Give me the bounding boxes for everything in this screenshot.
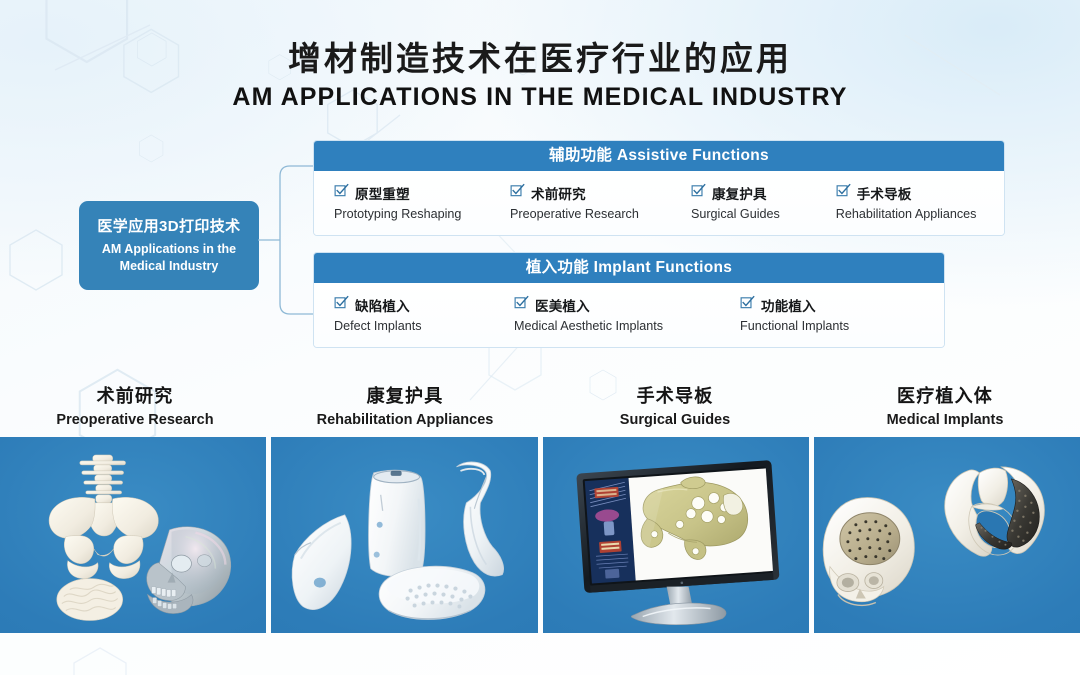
group-body-implant: 缺陷植入 Defect Implants 医美植入 Medical Aesthe… — [314, 283, 944, 347]
list-item-label-en: Surgical Guides — [691, 207, 824, 221]
list-item-label-en: Medical Aesthetic Implants — [514, 319, 728, 333]
checkbox-checked-icon — [334, 295, 349, 315]
showcase-caption: 康复护具 Rehabilitation Appliances — [270, 382, 540, 428]
group-header-implant: 植入功能 Implant Functions — [314, 253, 944, 283]
list-item-label-en: Functional Implants — [740, 319, 918, 333]
showcase-image-medical-implants — [814, 437, 1080, 633]
root-node-label-cn: 医学应用3D打印技术 — [79, 215, 259, 236]
checkbox-checked-icon — [740, 295, 755, 315]
list-item-label-cn: 康复护具 — [712, 183, 767, 203]
list-item[interactable]: 手术导板 Rehabilitation Appliances — [830, 183, 996, 221]
showcase-caption: 医疗植入体 Medical Implants — [810, 382, 1080, 428]
showcase-panels — [0, 437, 1080, 633]
group-header-assistive: 辅助功能 Assistive Functions — [314, 141, 1004, 171]
list-item-label-cn: 原型重塑 — [355, 183, 410, 203]
list-item-label-cn: 手术导板 — [857, 183, 912, 203]
list-item[interactable]: 医美植入 Medical Aesthetic Implants — [508, 295, 734, 333]
list-item-label-cn: 医美植入 — [535, 295, 590, 315]
page-title-en: AM APPLICATIONS IN THE MEDICAL INDUSTRY — [0, 83, 1080, 112]
list-item-label-en: Rehabilitation Appliances — [836, 207, 990, 221]
showcase-caption-en: Medical Implants — [810, 412, 1080, 428]
root-node-label: 医学应用3D打印技术 AM Applications in the Medica… — [79, 201, 259, 290]
checkbox-checked-icon — [514, 295, 529, 315]
showcase-caption: 术前研究 Preoperative Research — [0, 382, 270, 428]
showcase-caption-en: Surgical Guides — [540, 412, 810, 428]
list-item-label-cn: 缺陷植入 — [355, 295, 410, 315]
showcase-captions: 术前研究 Preoperative Research 康复护具 Rehabili… — [0, 382, 1080, 428]
showcase-image-preoperative-research — [0, 437, 266, 633]
list-item-label-en: Preoperative Research — [510, 207, 679, 221]
infographic-slide: 增材制造技术在医疗行业的应用 AM APPLICATIONS IN THE ME… — [0, 0, 1080, 675]
list-item[interactable]: 缺陷植入 Defect Implants — [328, 295, 508, 333]
group-card-implant-functions: 植入功能 Implant Functions 缺陷植入 Defect Impla… — [313, 252, 945, 348]
checkbox-checked-icon — [836, 183, 851, 203]
showcase-caption: 手术导板 Surgical Guides — [540, 382, 810, 428]
checkbox-checked-icon — [691, 183, 706, 203]
list-item[interactable]: 原型重塑 Prototyping Reshaping — [328, 183, 504, 221]
group-card-assistive-functions: 辅助功能 Assistive Functions 原型重塑 Prototypin… — [313, 140, 1005, 236]
page-title-cn: 增材制造技术在医疗行业的应用 — [0, 38, 1080, 79]
list-item-label-cn: 术前研究 — [531, 183, 586, 203]
showcase-image-surgical-guides — [543, 437, 809, 633]
list-item-label-en: Defect Implants — [334, 319, 502, 333]
showcase-caption-en: Rehabilitation Appliances — [270, 412, 540, 428]
list-item[interactable]: 术前研究 Preoperative Research — [504, 183, 685, 221]
showcase-caption-cn: 康复护具 — [270, 382, 540, 408]
list-item-label-en: Prototyping Reshaping — [334, 207, 498, 221]
root-node-label-en: AM Applications in the Medical Industry — [79, 241, 259, 275]
showcase-caption-en: Preoperative Research — [0, 412, 270, 428]
list-item[interactable]: 功能植入 Functional Implants — [734, 295, 924, 333]
group-body-assistive: 原型重塑 Prototyping Reshaping 术前研究 Preopera… — [314, 171, 1004, 235]
checkbox-checked-icon — [510, 183, 525, 203]
showcase-caption-cn: 手术导板 — [540, 382, 810, 408]
showcase-caption-cn: 术前研究 — [0, 382, 270, 408]
page-title: 增材制造技术在医疗行业的应用 AM APPLICATIONS IN THE ME… — [0, 38, 1080, 112]
bracket-connector — [258, 160, 318, 320]
list-item-label-cn: 功能植入 — [761, 295, 816, 315]
list-item[interactable]: 康复护具 Surgical Guides — [685, 183, 830, 221]
showcase-caption-cn: 医疗植入体 — [810, 382, 1080, 408]
checkbox-checked-icon — [334, 183, 349, 203]
showcase-image-rehabilitation-appliances — [271, 437, 537, 633]
